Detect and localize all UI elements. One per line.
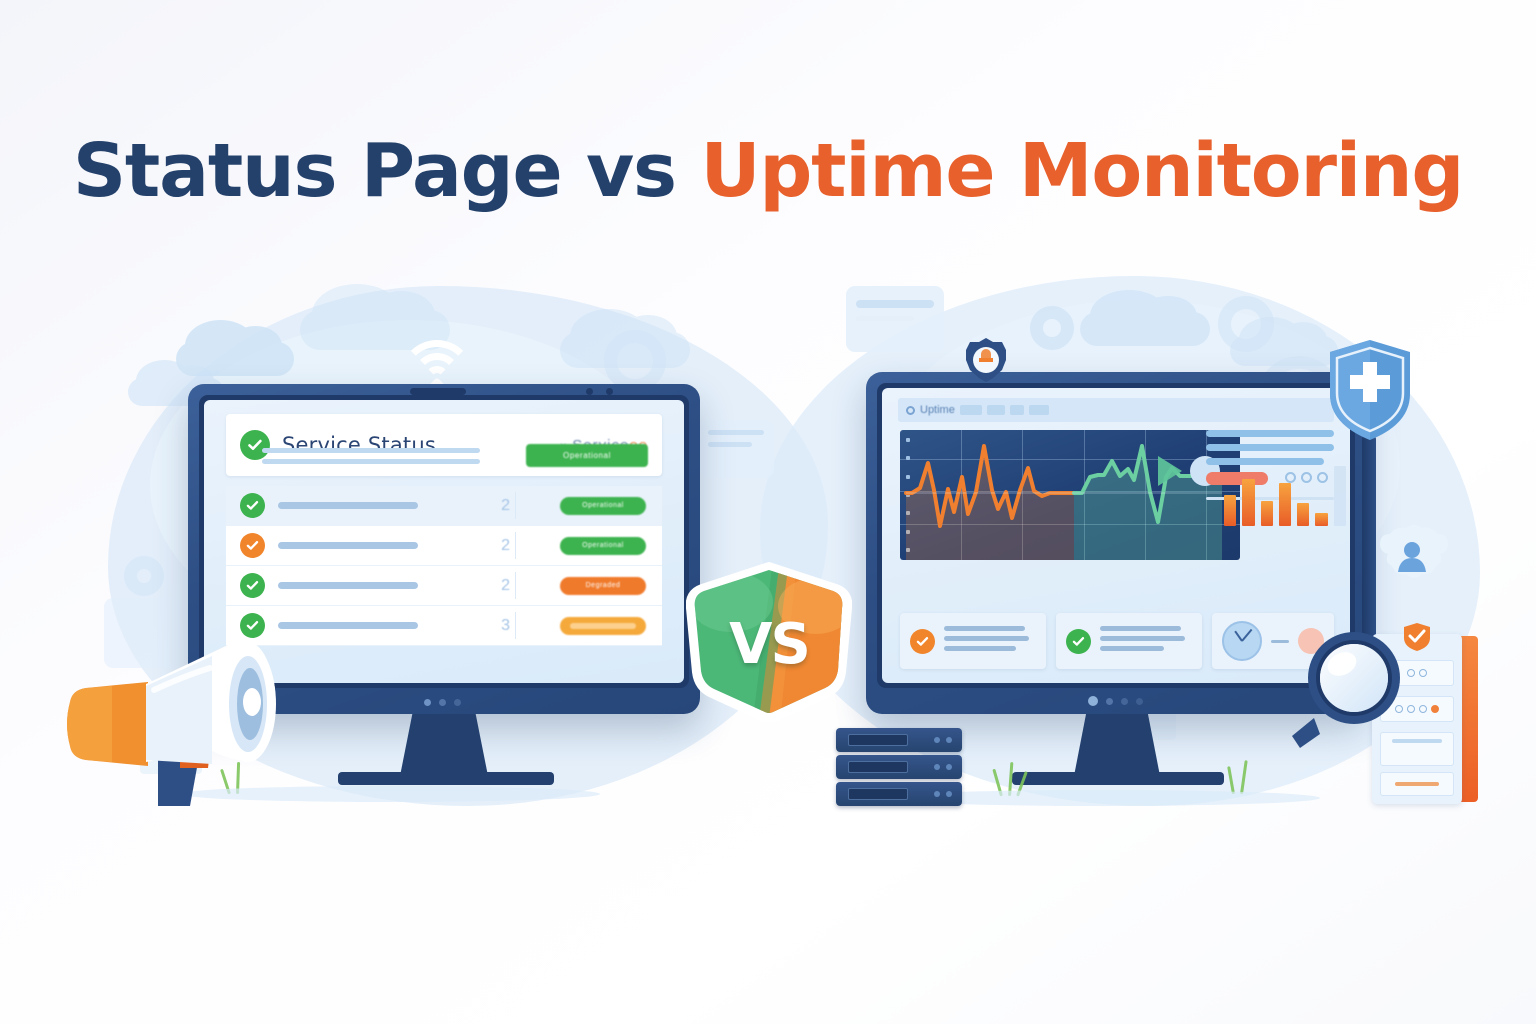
row-divider xyxy=(515,612,516,639)
server-stack-icon xyxy=(836,728,968,806)
status-led xyxy=(586,388,593,395)
background-line xyxy=(708,442,752,447)
row-value: 3 xyxy=(501,617,510,635)
row-divider xyxy=(515,572,516,599)
monitor-indicator-dots xyxy=(1088,696,1143,706)
bar xyxy=(1279,483,1291,526)
camera-notch xyxy=(410,388,466,395)
uptime-monitoring-monitor: Uptime xyxy=(866,372,1366,714)
row-label-skeleton xyxy=(278,542,418,549)
vs-label: VS xyxy=(686,562,852,722)
bar xyxy=(1242,479,1254,526)
topbar-segment xyxy=(1029,405,1049,415)
shield-check-icon xyxy=(1326,338,1414,442)
monitor-stand-neck xyxy=(400,714,488,776)
card-row[interactable] xyxy=(1380,772,1454,796)
check-circle-icon xyxy=(240,493,265,518)
illustration-canvas: Status Page vs Uptime Monitoring xyxy=(0,0,1536,1024)
header-skeleton-lines xyxy=(262,448,480,470)
summary-card[interactable] xyxy=(1056,613,1202,669)
status-badge[interactable]: Operational xyxy=(526,444,648,467)
status-pill[interactable] xyxy=(560,617,646,635)
check-circle-icon xyxy=(240,533,265,558)
vs-badge: VS xyxy=(686,562,852,722)
gauge-icon xyxy=(1222,621,1262,661)
circle-icon xyxy=(906,406,915,415)
monitor-stand-neck xyxy=(1074,714,1160,776)
topbar-segment xyxy=(987,405,1005,415)
check-circle-icon xyxy=(910,629,935,654)
bar xyxy=(1297,503,1309,526)
row-value: 2 xyxy=(501,537,510,555)
topbar-segment xyxy=(1010,405,1024,415)
shield-pole xyxy=(1362,436,1376,640)
uptime-monitoring-screen: Uptime xyxy=(882,388,1350,683)
summary-card[interactable] xyxy=(900,613,1046,669)
monitor-stand-base xyxy=(338,772,554,785)
gear-icon xyxy=(604,330,666,392)
gear-icon xyxy=(1030,306,1074,350)
bar-ghost xyxy=(1334,466,1346,526)
user-avatar-icon xyxy=(1376,524,1448,590)
topbar-label: Uptime xyxy=(920,404,955,416)
check-circle-icon xyxy=(240,573,265,598)
check-circle-icon xyxy=(1066,629,1091,654)
gear-icon xyxy=(1218,296,1274,352)
status-led xyxy=(606,388,613,395)
card-skeleton-lines xyxy=(944,626,1036,656)
title-part-status-page: Status Page vs xyxy=(73,128,701,214)
response-time-chart xyxy=(900,430,1240,560)
table-row[interactable]: 2 Operational xyxy=(226,486,662,526)
row-label-skeleton xyxy=(278,582,418,589)
bar xyxy=(1261,501,1273,526)
chart-series xyxy=(900,430,1240,560)
gear-badge-icon xyxy=(962,336,1010,384)
monitor-stand-base xyxy=(1012,772,1224,785)
background-line xyxy=(856,300,934,308)
connector-line xyxy=(1271,640,1289,643)
card-skeleton-lines xyxy=(1100,626,1192,656)
title-part-uptime-monitoring: Uptime Monitoring xyxy=(700,128,1463,214)
table-row[interactable]: 2 Degraded xyxy=(226,566,662,606)
row-value: 2 xyxy=(501,577,510,595)
background-line xyxy=(856,316,914,321)
row-divider xyxy=(515,532,516,559)
megaphone-icon xyxy=(62,628,312,818)
table-row[interactable]: 2 Operational xyxy=(226,526,662,566)
summary-cards xyxy=(900,613,1334,669)
background-card xyxy=(700,420,774,478)
topbar-segment xyxy=(960,405,982,415)
bar xyxy=(1224,495,1236,526)
status-pill[interactable]: Operational xyxy=(560,497,646,515)
status-pill[interactable]: Degraded xyxy=(560,577,646,595)
background-line xyxy=(708,430,764,435)
dashboard-topbar: Uptime xyxy=(898,398,1334,422)
page-title: Status Page vs Uptime Monitoring xyxy=(0,128,1536,214)
gear-icon xyxy=(124,556,164,596)
magnifying-glass-icon xyxy=(1292,626,1410,750)
row-value: 2 xyxy=(501,497,510,515)
play-triangle-icon xyxy=(1158,456,1182,486)
bar-chart xyxy=(1224,466,1346,526)
row-divider xyxy=(515,492,516,519)
cloud-icon xyxy=(1080,312,1210,346)
status-pill[interactable]: Operational xyxy=(560,537,646,555)
row-label-skeleton xyxy=(278,502,418,509)
bar xyxy=(1315,513,1327,526)
monitor-indicator-dots xyxy=(424,699,461,706)
